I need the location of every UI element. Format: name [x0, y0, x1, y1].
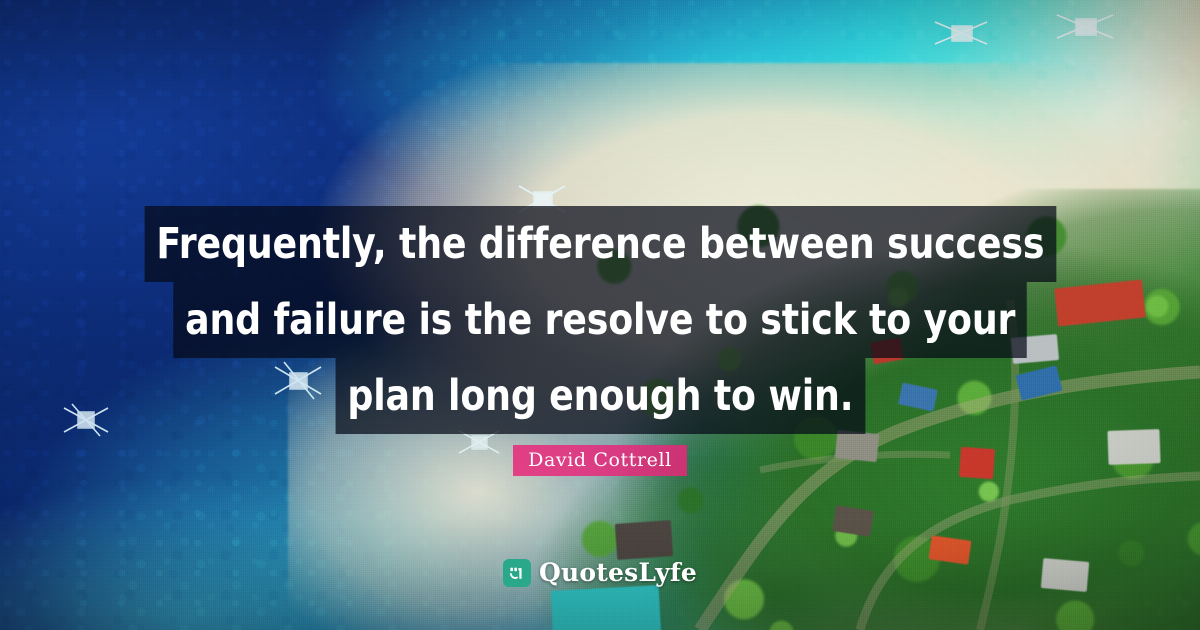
quote-line-3: plan long enough to win. — [0, 358, 1200, 434]
outrigger-boat-4 — [932, 14, 990, 54]
quote-line-1: Frequently, the difference between succe… — [0, 206, 1200, 282]
outrigger-boat-5 — [1054, 6, 1116, 48]
quote-card: Frequently, the difference between succe… — [0, 0, 1200, 630]
quote-line-2-text: and failure is the resolve to stick to y… — [173, 282, 1027, 358]
author-attribution: David Cottrell — [0, 445, 1200, 476]
quote-line-1-text: Frequently, the difference between succe… — [144, 206, 1056, 282]
quote-smiley-icon — [503, 559, 531, 587]
author-name: David Cottrell — [513, 445, 687, 476]
roof-dark-1 — [615, 520, 673, 560]
quote-line-3-text: plan long enough to win. — [335, 358, 865, 434]
brand-logo[interactable]: QuotesLyfe — [0, 559, 1200, 587]
quote-text: Frequently, the difference between succe… — [0, 206, 1200, 434]
quote-line-2: and failure is the resolve to stick to y… — [0, 282, 1200, 358]
roof-teal-large — [551, 585, 662, 630]
brand-name-text: QuotesLyfe — [539, 559, 697, 587]
